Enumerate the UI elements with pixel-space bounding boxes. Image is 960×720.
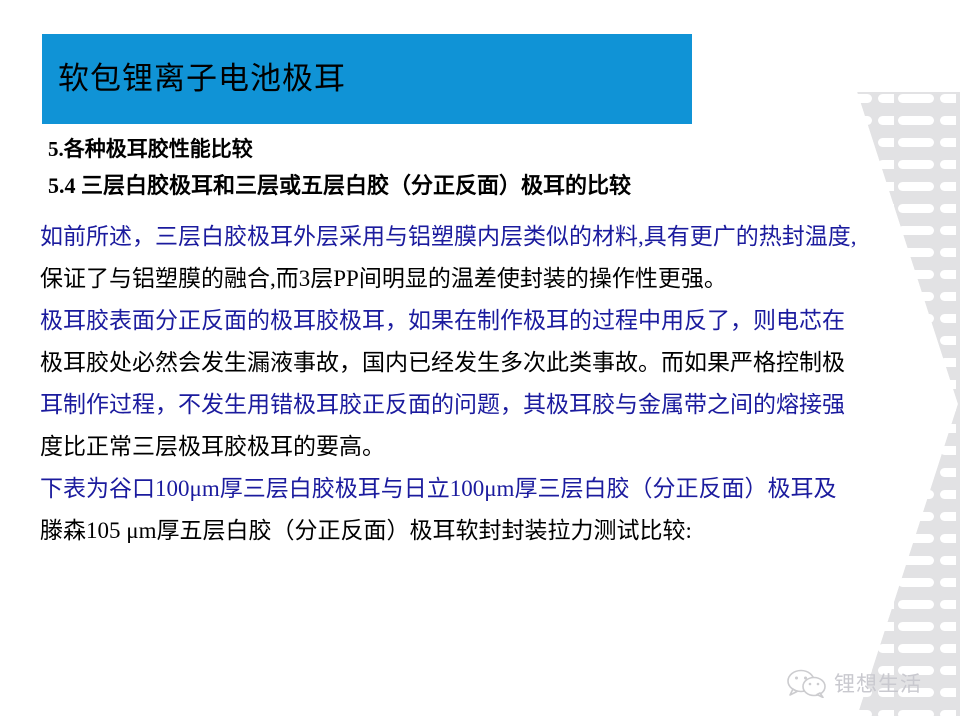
body-line: 保证了与铝塑膜的融合,而3层PP间明显的温差使封装的操作性更强。 bbox=[40, 258, 920, 300]
page-title: 软包锂离子电池极耳 bbox=[58, 62, 346, 96]
section-heading: 5.各种极耳胶性能比较 bbox=[48, 133, 253, 163]
body-line: 滕森105 μm厚五层白胶（分正反面）极耳软封封装拉力测试比较: bbox=[40, 510, 920, 552]
body-line: 极耳胶处必然会发生漏液事故，国内已经发生多次此类事故。而如果严格控制极 bbox=[40, 342, 920, 384]
body-line: 极耳胶表面分正反面的极耳胶极耳，如果在制作极耳的过程中用反了，则电芯在 bbox=[40, 300, 920, 342]
body-text-block: 如前所述，三层白胶极耳外层采用与铝塑膜内层类似的材料,具有更广的热封温度, 保证… bbox=[40, 216, 920, 552]
body-line: 度比正常三层极耳胶极耳的要高。 bbox=[40, 426, 920, 468]
wechat-icon bbox=[786, 668, 828, 698]
title-banner: 软包锂离子电池极耳 bbox=[42, 34, 692, 124]
watermark-label: 锂想生活 bbox=[834, 668, 922, 698]
body-line: 耳制作过程，不发生用错极耳胶正反面的问题，其极耳胶与金属带之间的熔接强 bbox=[40, 384, 920, 426]
body-line: 如前所述，三层白胶极耳外层采用与铝塑膜内层类似的材料,具有更广的热封温度, bbox=[40, 216, 920, 258]
slide-canvas: 软包锂离子电池极耳 5.各种极耳胶性能比较 5.4 三层白胶极耳和三层或五层白胶… bbox=[0, 0, 960, 720]
watermark: 锂想生活 bbox=[786, 660, 946, 706]
body-line: 下表为谷口100μm厚三层白胶极耳与日立100μm厚三层白胶（分正反面）极耳及 bbox=[40, 468, 920, 510]
subsection-heading: 5.4 三层白胶极耳和三层或五层白胶（分正反面）极耳的比较 bbox=[48, 168, 631, 200]
